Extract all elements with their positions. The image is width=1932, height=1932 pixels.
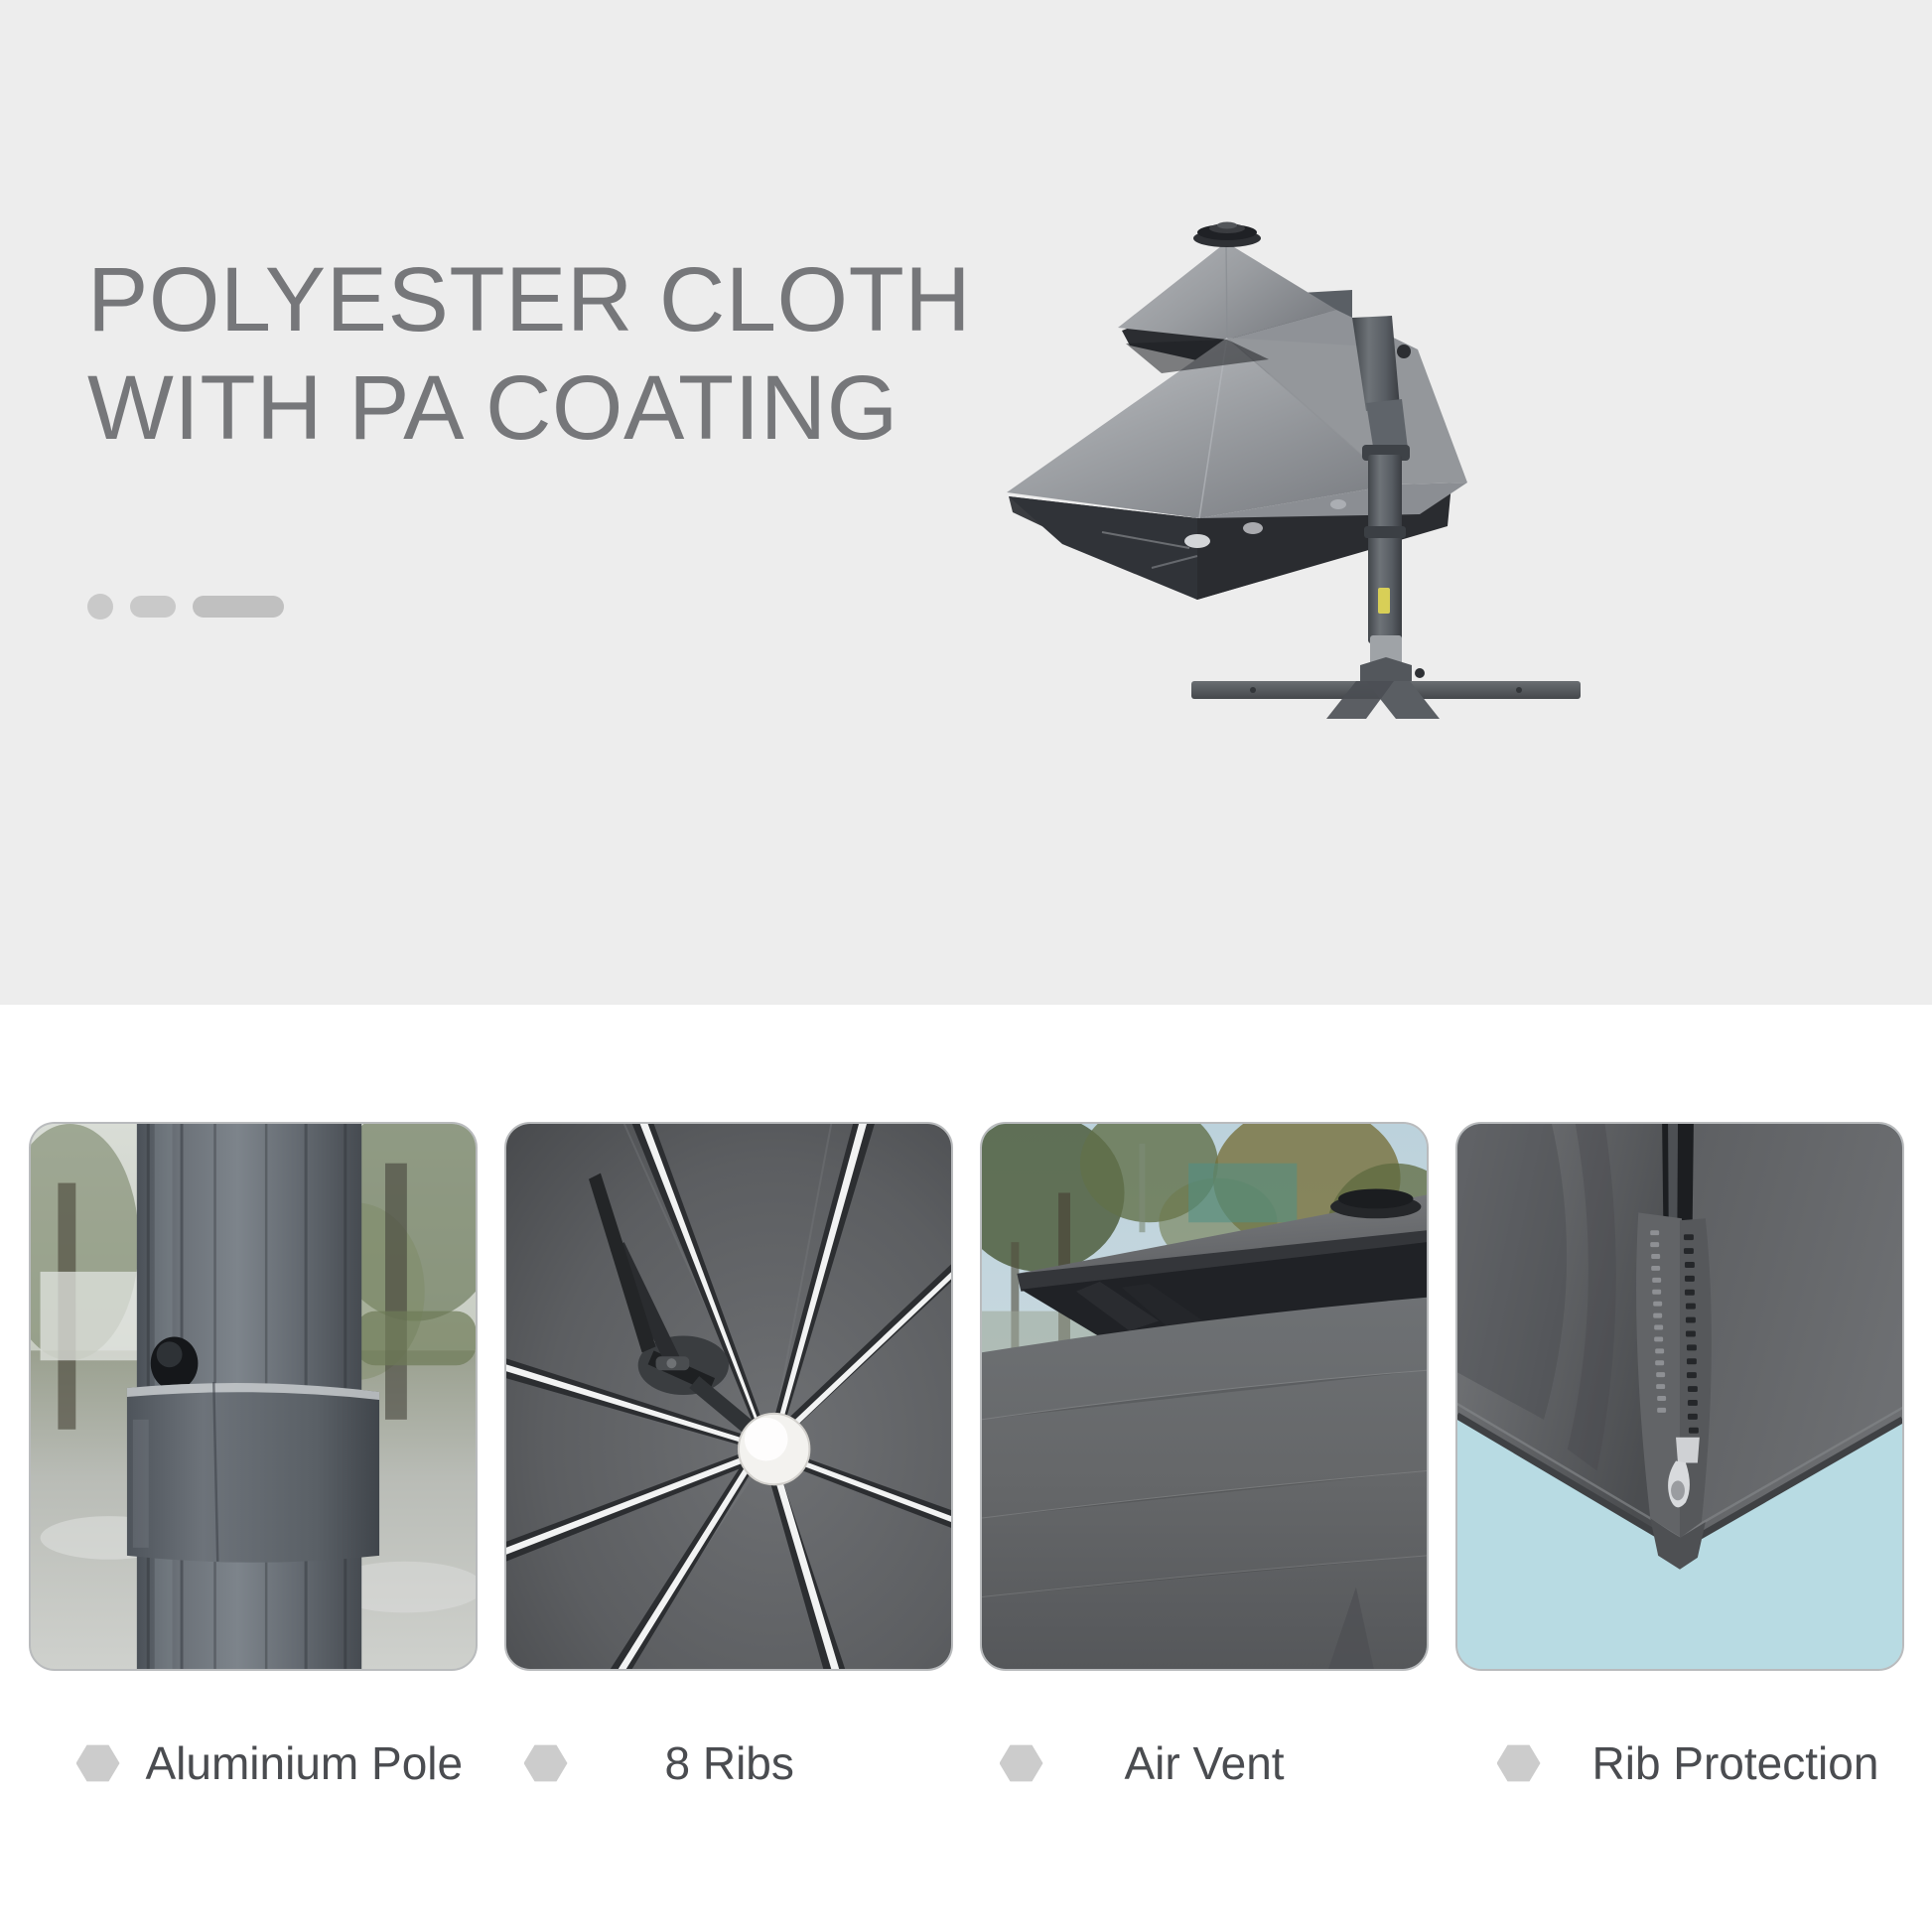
progress-pill-large-icon xyxy=(193,596,284,618)
hexagon-bullet-icon xyxy=(524,1743,568,1783)
feature-label: 8 Ribs xyxy=(665,1736,794,1790)
hero-product-image xyxy=(1003,199,1797,894)
feature-thumbnail-air-vent[interactable] xyxy=(980,1122,1429,1671)
hexagon-bullet-icon xyxy=(76,1743,120,1783)
hero-panel: POLYESTER CLOTH WITH PA COATING xyxy=(0,0,1932,1005)
feature-thumbnail-strip xyxy=(0,1122,1932,1678)
feature-thumbnail-rib-protection[interactable] xyxy=(1455,1122,1904,1671)
feature-caption-rib-protection: Rib Protection xyxy=(1455,1704,1904,1823)
feature-caption-aluminium-pole: Aluminium Pole xyxy=(29,1704,478,1823)
feature-label: Aluminium Pole xyxy=(146,1736,464,1790)
decorative-progress-marks xyxy=(87,594,284,620)
hexagon-bullet-icon xyxy=(1000,1743,1043,1783)
progress-dot-icon xyxy=(87,594,113,620)
feature-thumbnail-aluminium-pole[interactable] xyxy=(29,1122,478,1671)
feature-caption-row: Aluminium Pole 8 Ribs Air Vent Rib Prote… xyxy=(0,1704,1932,1823)
feature-caption-8-ribs: 8 Ribs xyxy=(504,1704,953,1823)
feature-label: Air Vent xyxy=(1125,1736,1285,1790)
page-title: POLYESTER CLOTH WITH PA COATING xyxy=(87,246,1080,462)
hexagon-bullet-icon xyxy=(1497,1743,1541,1783)
product-feature-page: POLYESTER CLOTH WITH PA COATING xyxy=(0,0,1932,1932)
feature-thumbnail-8-ribs[interactable] xyxy=(504,1122,953,1671)
progress-pill-small-icon xyxy=(130,596,176,618)
feature-caption-air-vent: Air Vent xyxy=(980,1704,1429,1823)
feature-label: Rib Protection xyxy=(1592,1736,1879,1790)
